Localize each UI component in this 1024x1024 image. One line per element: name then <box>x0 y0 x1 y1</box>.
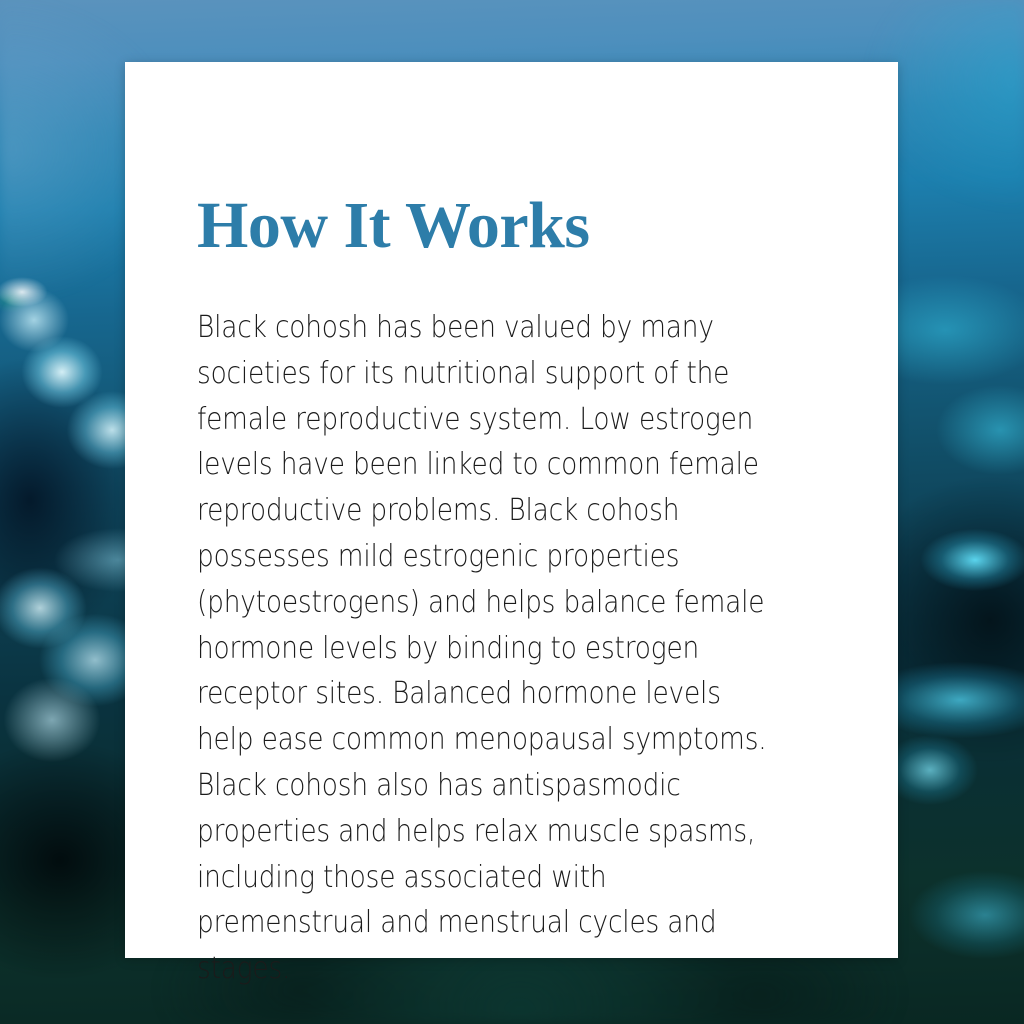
slide-canvas: How It Works Black cohosh has been value… <box>0 0 1024 1024</box>
body-paragraph: Black cohosh has been valued by many soc… <box>197 305 778 992</box>
content-card: How It Works Black cohosh has been value… <box>125 62 898 958</box>
page-title: How It Works <box>197 193 590 259</box>
